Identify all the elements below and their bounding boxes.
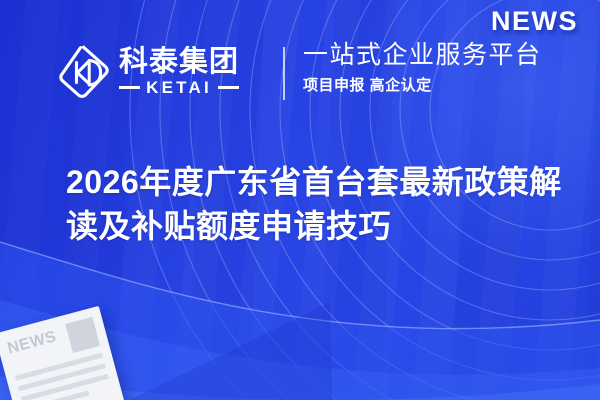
wordmark-dash-left xyxy=(119,86,140,89)
wordmark-dash-right xyxy=(218,86,239,89)
article-title: 2026年度广东省首台套最新政策解读及补贴额度申请技巧 xyxy=(66,160,571,248)
banner-header: 科泰集团 KETAI 一站式企业服务平台 项目申报 高企认定 NEWS xyxy=(0,0,600,138)
slogan-sub-text: 项目申报 高企认定 xyxy=(303,77,542,95)
ketai-diamond-kd-logo-icon xyxy=(58,44,110,100)
brand-logo[interactable]: 科泰集团 KETAI xyxy=(58,44,239,100)
newspaper-masthead-label: NEWS xyxy=(6,329,58,357)
newspaper-thumbnail-block xyxy=(65,317,100,353)
brand-wordmark: 科泰集团 KETAI xyxy=(119,48,239,96)
brand-name-en: KETAI xyxy=(146,79,212,96)
brand-name-cn: 科泰集团 xyxy=(119,48,239,77)
brand-name-en-row: KETAI xyxy=(119,79,239,96)
slogan-block: 一站式企业服务平台 项目申报 高企认定 xyxy=(303,41,542,95)
slogan-main-text: 一站式企业服务平台 xyxy=(303,41,542,71)
news-banner: 科泰集团 KETAI 一站式企业服务平台 项目申报 高企认定 NEWS 2026… xyxy=(0,0,600,400)
header-divider xyxy=(283,47,285,100)
news-badge: NEWS xyxy=(491,8,578,35)
